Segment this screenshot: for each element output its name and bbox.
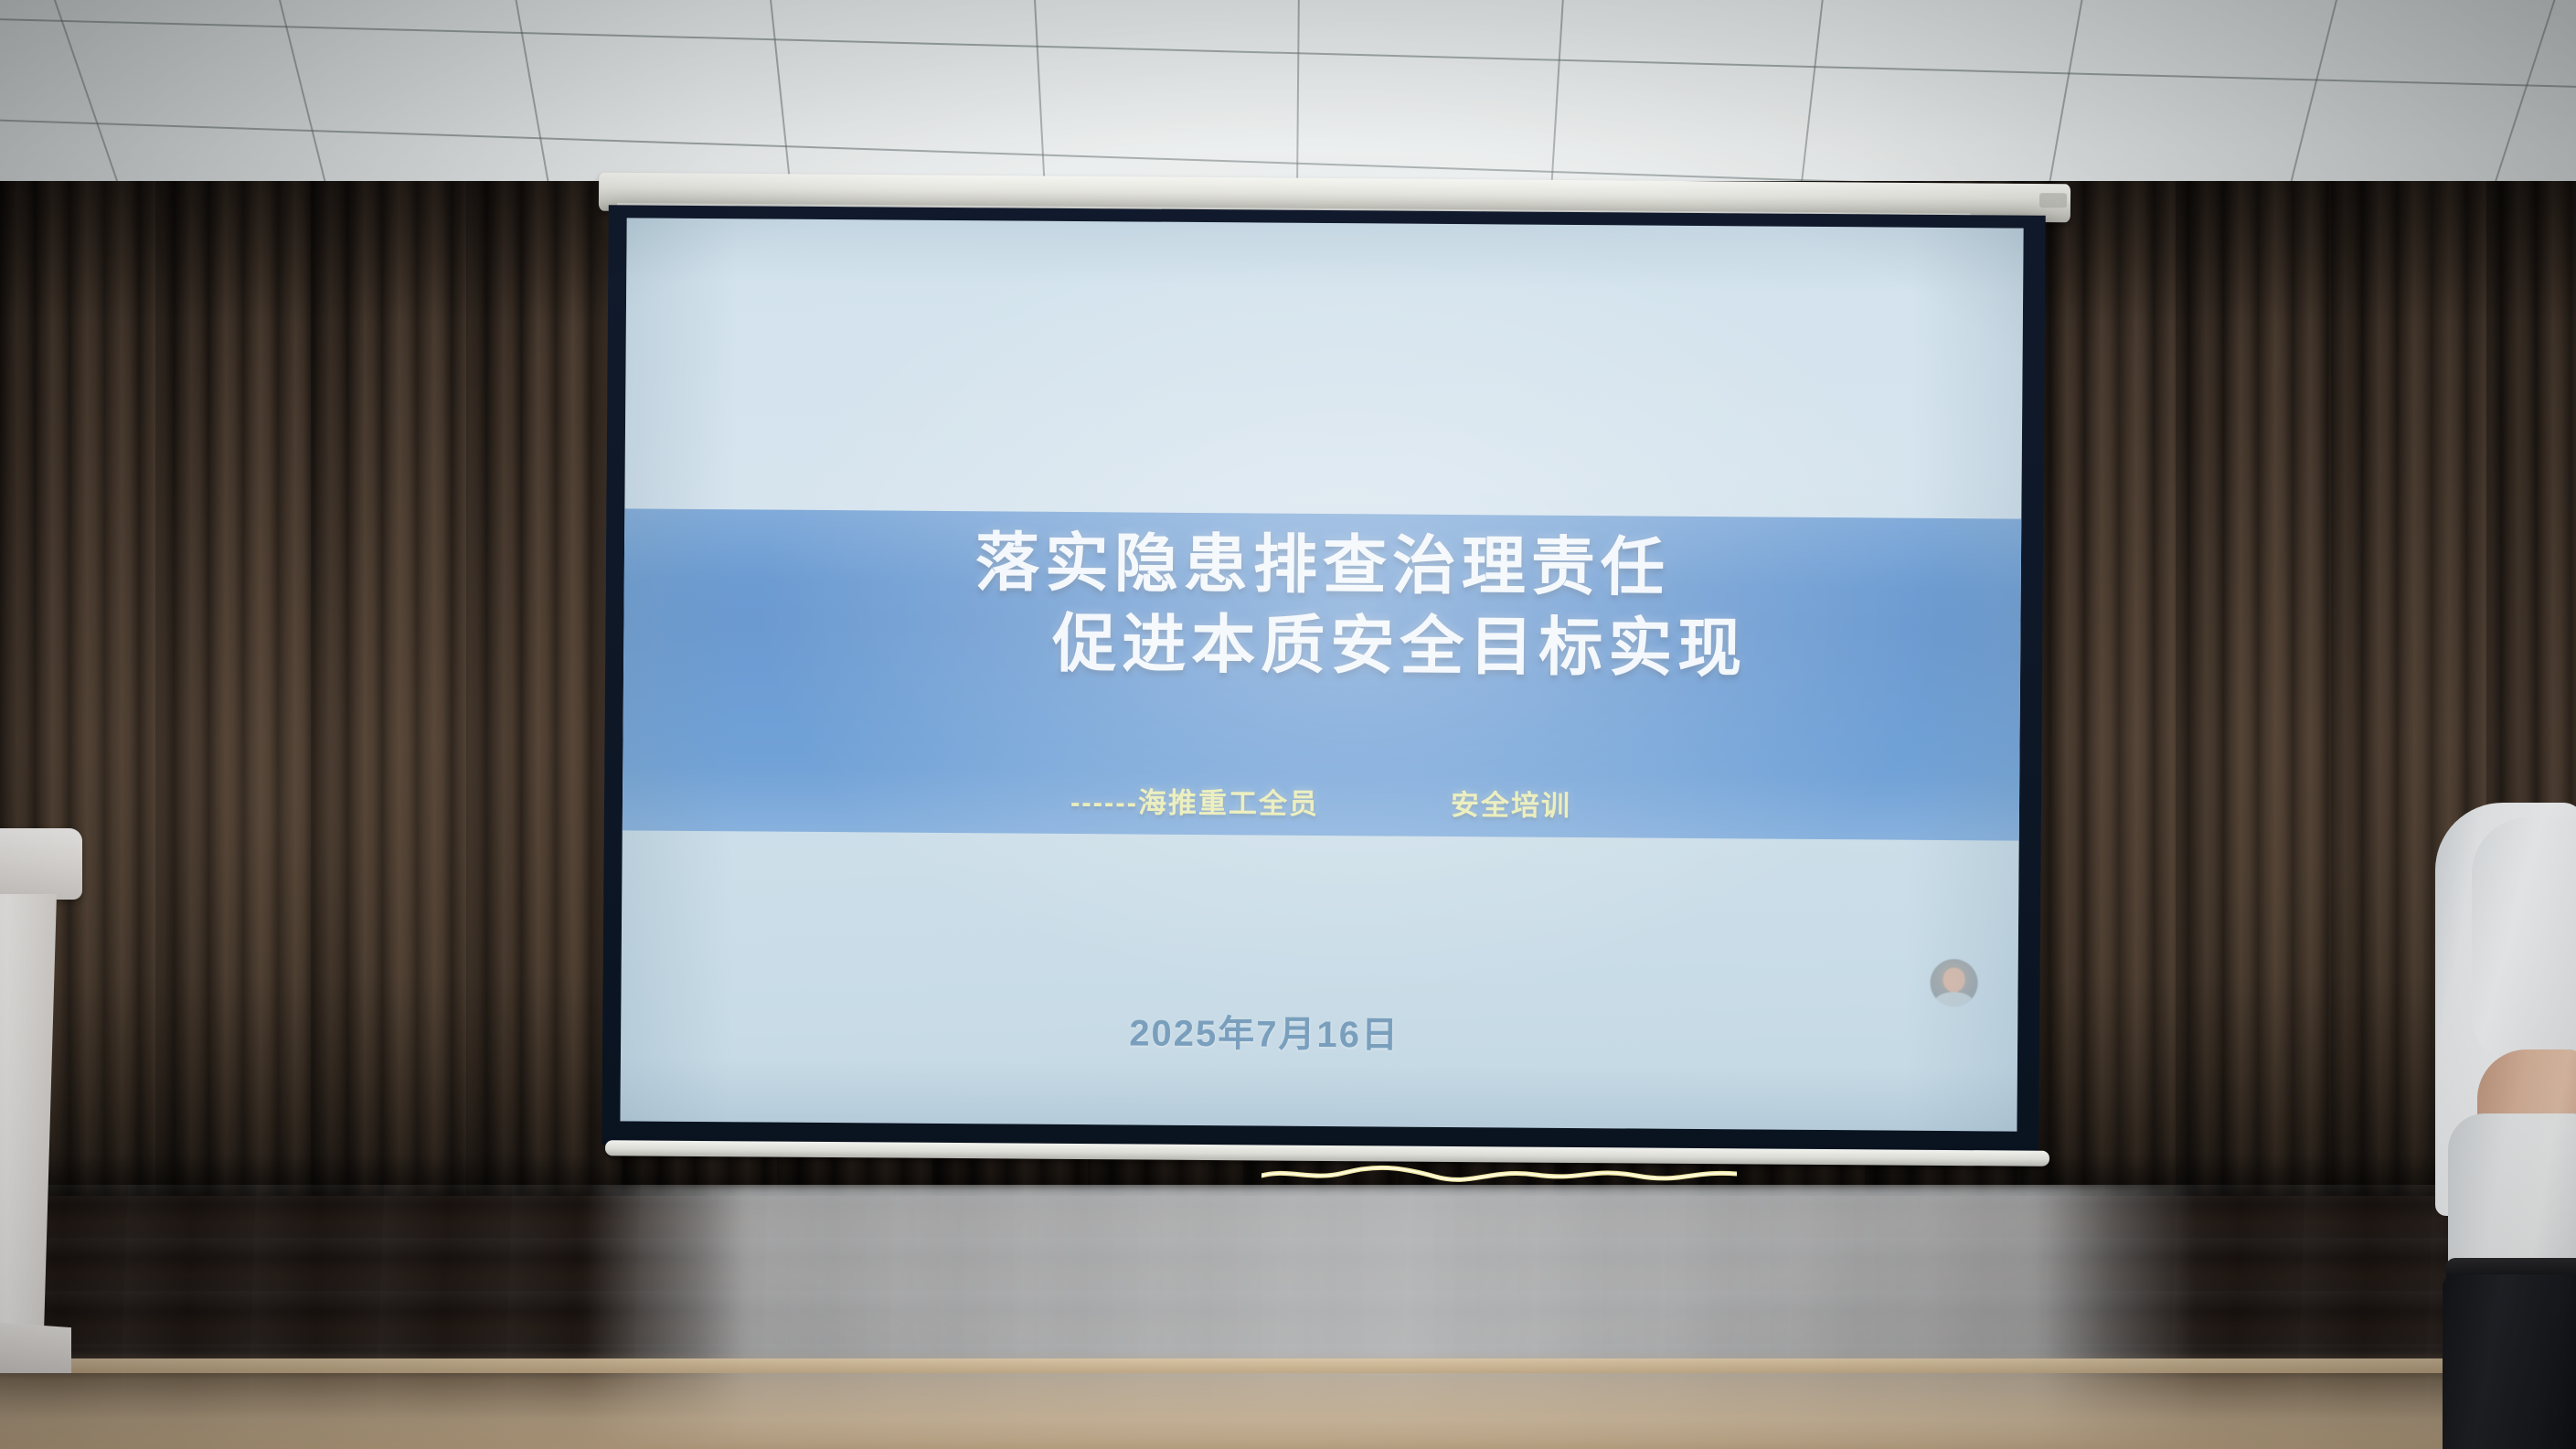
room-photo-scene: 落实隐患排查治理责任 促进本质安全目标实现 ------海推重工全员 安全培训 …: [0, 0, 2576, 1449]
cable-light-strip: [1261, 1161, 1737, 1185]
stage-edge-trim: [0, 1358, 2576, 1373]
person-trousers: [2443, 1274, 2576, 1449]
slide-title-line-1: 落实隐患排查治理责任: [624, 519, 2022, 610]
avatar-face: [1943, 967, 1965, 992]
floor: [0, 1185, 2576, 1449]
lectern-column: [0, 894, 57, 1333]
avatar-body: [1934, 992, 1973, 1007]
projection-screen-frame: 落实隐患排查治理责任 促进本质安全目标实现 ------海推重工全员 安全培训 …: [601, 205, 2045, 1155]
slide-date: 2025年7月16日: [621, 999, 2017, 1062]
presenter-avatar: [1930, 959, 1977, 1007]
lectern: [0, 828, 82, 1377]
person-sleeve: [2472, 817, 2576, 1057]
lectern-base: [0, 1320, 71, 1373]
standing-person: [2430, 803, 2576, 1449]
slide-title-line-2: 促进本质安全目标实现: [623, 601, 2021, 691]
housing-end-cap: [2039, 193, 2067, 208]
projection-screen-surface: 落实隐患排查治理责任 促进本质安全目标实现 ------海推重工全员 安全培训 …: [620, 218, 2023, 1131]
lectern-top: [0, 828, 82, 900]
slide-subtitle-left: ------海推重工全员: [1070, 779, 1319, 822]
person-shirt-lower: [2448, 1113, 2576, 1269]
slide-subtitle-right: 安全培训: [1451, 782, 1571, 824]
slide-title-block: 落实隐患排查治理责任 促进本质安全目标实现: [623, 519, 2021, 691]
